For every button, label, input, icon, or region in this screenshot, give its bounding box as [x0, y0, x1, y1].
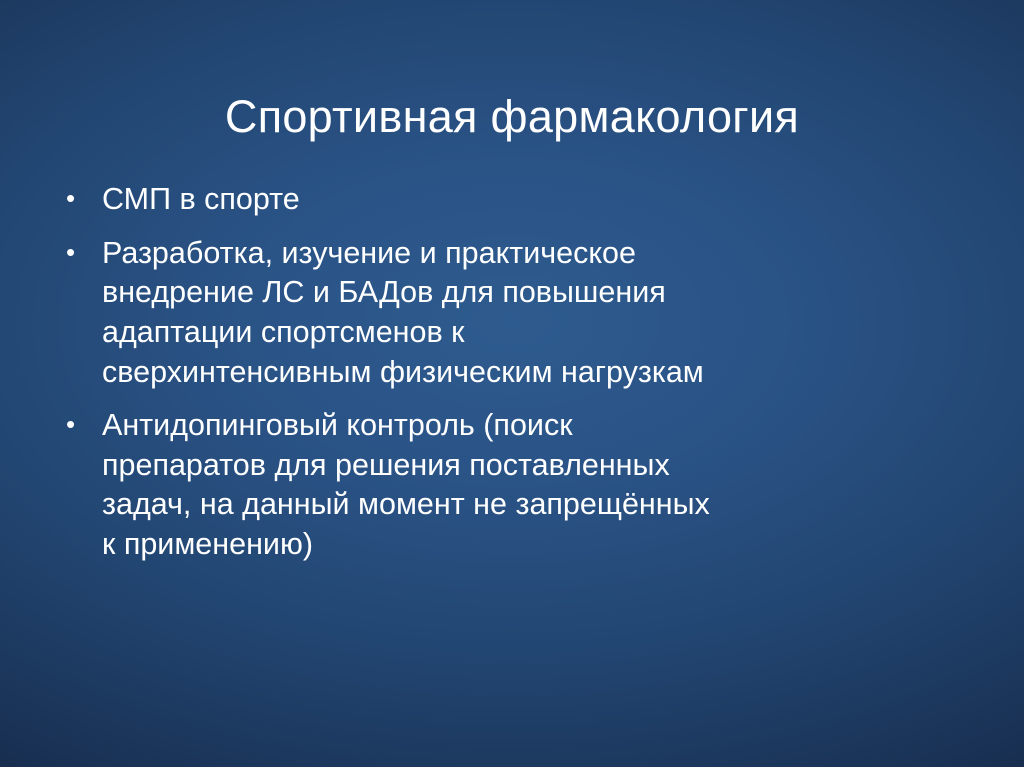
list-item-text: Разработка, изучение и практическое внед… — [102, 234, 982, 393]
bullet-dot-icon: • — [66, 180, 75, 217]
list-item: • СМП в спорте — [52, 180, 982, 220]
presentation-slide: Спортивная фармакология • СМП в спорте •… — [0, 0, 1024, 767]
list-item-text: Антидопинговый контроль (поиск препарато… — [102, 406, 982, 565]
list-item: • Разработка, изучение и практическое вн… — [52, 234, 982, 393]
bullet-list: • СМП в спорте • Разработка, изучение и … — [52, 180, 982, 579]
list-item-text: СМП в спорте — [102, 180, 982, 220]
bullet-dot-icon: • — [66, 234, 75, 271]
list-item: • Антидопинговый контроль (поиск препара… — [52, 406, 982, 565]
page-title: Спортивная фармакология — [0, 92, 1024, 142]
bullet-dot-icon: • — [66, 406, 75, 443]
